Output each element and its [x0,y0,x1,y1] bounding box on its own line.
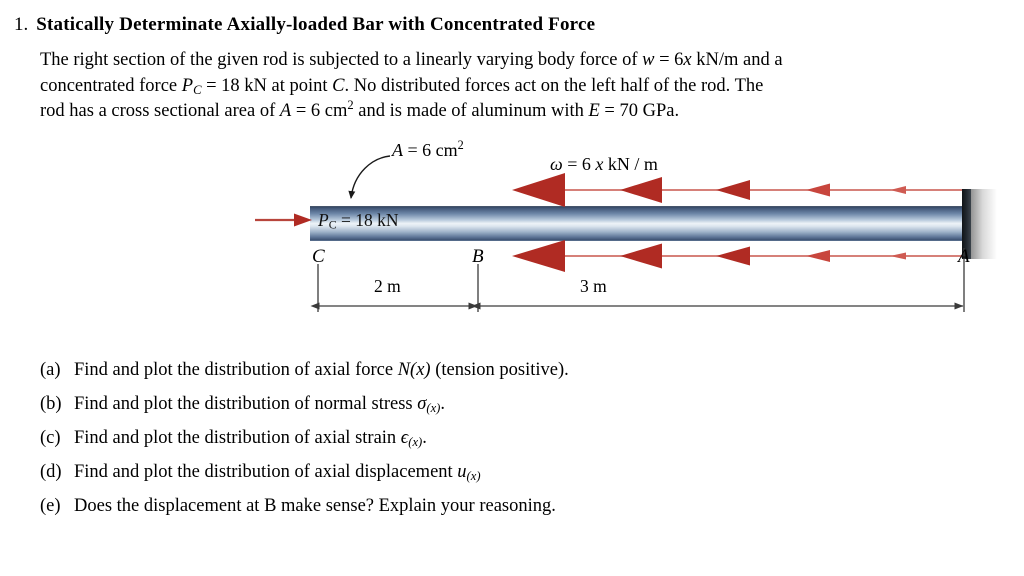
symbol-point-c: C [332,76,344,96]
area-value: = 6 cm [403,140,458,160]
statement-text: = 70 GPa. [600,101,679,121]
symbol-w: w [642,50,654,70]
symbol-x: x [683,50,691,70]
omega-symbol: ω [550,154,563,174]
area-exponent: 2 [458,138,464,152]
question-text-tail: (tension positive). [431,360,569,380]
question-text: Find and plot the distribution of normal… [74,394,417,414]
question-text: Find and plot the distribution of axial … [74,428,401,448]
free-body-diagram: A = 6 cm2 ω = 6 x kN / m PC = 18 kN C B … [250,140,770,320]
problem-statement: The right section of the given rod is su… [40,48,1002,125]
list-item: (a)Find and plot the distribution of axi… [40,360,1000,380]
load-units: kN / m [603,154,658,174]
question-symbol: N [398,360,410,380]
statement-text: = 6 cm [291,101,347,121]
question-symbol-subscript: (x) [467,469,481,483]
applied-force-arrow [255,214,312,227]
problem-title-text: Statically Determinate Axially-loaded Ba… [36,14,595,35]
node-c-text: C [312,246,325,267]
node-b-text: B [472,246,484,267]
list-item: (b)Find and plot the distribution of nor… [40,394,1000,414]
question-symbol-subscript: (x) [408,435,422,449]
problem-page: 1.Statically Determinate Axially-loaded … [0,0,1024,576]
statement-line-3: rod has a cross sectional area of A = 6 … [40,99,1002,125]
force-symbol: P [318,210,329,230]
area-leader-line [351,156,390,198]
area-symbol: A [392,140,403,160]
node-label-c: C [312,246,325,268]
question-label: (a) [40,360,74,380]
statement-text: . No distributed forces act on the left … [344,76,763,96]
symbol-area: A [280,101,291,121]
question-text: Find and plot the distribution of axial … [74,462,457,482]
force-subscript: C [329,218,337,232]
list-item: (d)Find and plot the distribution of axi… [40,462,1000,482]
question-text: Find and plot the distribution of axial … [74,360,398,380]
question-symbol-subscript: (x) [410,360,431,380]
area-label: A = 6 cm2 [392,140,464,161]
dimension-label-right: 3 m [580,276,607,297]
problem-number: 1. [14,14,28,35]
distributed-load-arrows-top [512,173,962,207]
statement-text: = 18 kN at point [201,76,332,96]
question-label: (e) [40,496,74,516]
node-label-b: B [472,246,484,268]
statement-text: = 6 [654,50,683,70]
point-force-label: PC = 18 kN [318,210,399,231]
distributed-load-label: ω = 6 x kN / m [550,154,658,175]
question-text: Does the displacement at B make sense? E… [74,496,556,516]
list-item: (c)Find and plot the distribution of axi… [40,428,1000,448]
question-text-tail: . [440,394,445,414]
statement-text: The right section of the given rod is su… [40,50,642,70]
symbol-modulus: E [588,101,599,121]
node-a-text: A [958,246,970,267]
page-title: 1.Statically Determinate Axially-loaded … [14,12,994,38]
dimension-label-left: 2 m [374,276,401,297]
list-item: (e)Does the displacement at B make sense… [40,496,1000,516]
symbol-p: P [182,76,193,96]
statement-text: concentrated force [40,76,182,96]
force-value: = 18 kN [337,210,399,230]
question-label: (b) [40,394,74,414]
question-symbol: u [457,462,466,482]
statement-text: kN/m and a [692,50,783,70]
question-symbol-subscript: (x) [426,401,440,415]
node-label-a: A [958,246,970,268]
question-label: (c) [40,428,74,448]
statement-line-2: concentrated force PC = 18 kN at point C… [40,74,1002,100]
statement-line-1: The right section of the given rod is su… [40,48,1002,74]
distributed-load-arrows-bottom [512,240,962,272]
wall-shadow [971,189,997,259]
question-text-tail: . [422,428,427,448]
question-label: (d) [40,462,74,482]
load-equals: = 6 [563,154,596,174]
statement-text: rod has a cross sectional area of [40,101,280,121]
statement-text: and is made of aluminum with [354,101,589,121]
sub-question-list: (a)Find and plot the distribution of axi… [40,360,1000,530]
